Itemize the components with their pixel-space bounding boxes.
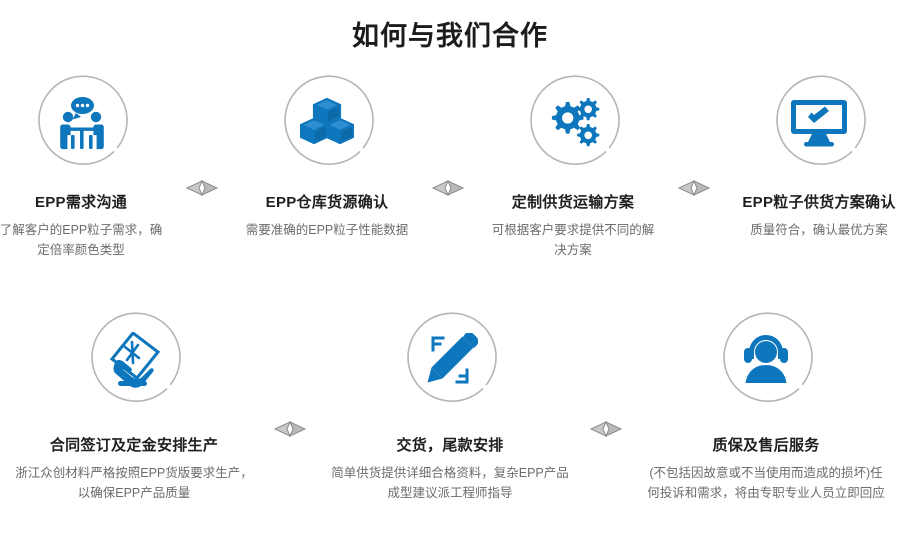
step-description: 可根据客户要求提供不同的解决方案: [473, 220, 673, 260]
process-row-bottom: 合同签订及定金安排生产 浙江众创材料严格按照EPP货版要求生产，以确保EPP产品…: [0, 308, 900, 503]
step-description: 简单供货提供详细合格资料，复杂EPP产品成型建议派工程师指导: [315, 463, 585, 503]
flow-arrow-1: [181, 71, 227, 197]
process-step-5[interactable]: 合同签订及定金安排生产 浙江众创材料严格按照EPP货版要求生产，以确保EPP产品…: [0, 308, 269, 503]
step-title: EPP需求沟通: [0, 193, 181, 213]
step-title: 合同签订及定金安排生产: [0, 436, 269, 456]
process-step-6[interactable]: 交货，尾款安排 简单供货提供详细合格资料，复杂EPP产品成型建议派工程师指导: [315, 308, 585, 503]
double-chevron-arrow-icon: [590, 420, 626, 438]
page-title: 如何与我们合作: [0, 0, 900, 53]
step-icon-ring: [275, 71, 379, 175]
step-description: 需要准确的EPP粒子性能数据: [227, 220, 427, 240]
people-meeting-chat-icon: [29, 71, 133, 175]
step-title: 定制供货运输方案: [473, 193, 673, 213]
step-description: 了解客户的EPP粒子需求，确定倍率颜色类型: [0, 220, 181, 260]
stacked-boxes-icon: [275, 71, 379, 175]
step-icon-ring: [714, 308, 818, 412]
step-icon-ring: [82, 308, 186, 412]
step-title: 质保及售后服务: [631, 436, 900, 456]
process-step-2[interactable]: EPP仓库货源确认 需要准确的EPP粒子性能数据: [227, 71, 427, 240]
step-icon-ring: [767, 71, 871, 175]
hand-signing-document-icon: [82, 308, 186, 412]
process-step-7[interactable]: 质保及售后服务 (不包括因故意或不当使用而造成的损坏)任何投诉和需求，将由专职专…: [631, 308, 900, 503]
step-description: 浙江众创材料严格按照EPP货版要求生产，以确保EPP产品质量: [0, 463, 269, 503]
flow-arrow-5: [585, 308, 631, 438]
step-description: 质量符合，确认最优方案: [719, 220, 900, 240]
gears-icon: [521, 71, 625, 175]
step-icon-ring: [398, 308, 502, 412]
flow-arrow-4: [269, 308, 315, 438]
process-flow: EPP需求沟通 了解客户的EPP粒子需求，确定倍率颜色类型: [0, 71, 900, 503]
double-chevron-arrow-icon: [432, 179, 468, 197]
headset-support-icon: [714, 308, 818, 412]
process-step-1[interactable]: EPP需求沟通 了解客户的EPP粒子需求，确定倍率颜色类型: [0, 71, 181, 260]
step-icon-ring: [521, 71, 625, 175]
step-description: (不包括因故意或不当使用而造成的损坏)任何投诉和需求，将由专职专业人员立即回应: [631, 463, 900, 503]
step-title: EPP粒子供货方案确认: [719, 193, 900, 213]
double-chevron-arrow-icon: [274, 420, 310, 438]
double-chevron-arrow-icon: [186, 179, 222, 197]
process-step-4[interactable]: EPP粒子供货方案确认 质量符合，确认最优方案: [719, 71, 900, 240]
process-step-3[interactable]: 定制供货运输方案 可根据客户要求提供不同的解决方案: [473, 71, 673, 260]
step-title: EPP仓库货源确认: [227, 193, 427, 213]
step-title: 交货，尾款安排: [315, 436, 585, 456]
double-chevron-arrow-icon: [678, 179, 714, 197]
flow-arrow-2: [427, 71, 473, 197]
monitor-check-icon: [767, 71, 871, 175]
flow-arrow-3: [673, 71, 719, 197]
process-row-top: EPP需求沟通 了解客户的EPP粒子需求，确定倍率颜色类型: [0, 71, 900, 260]
step-icon-ring: [29, 71, 133, 175]
pencil-design-icon: [398, 308, 502, 412]
